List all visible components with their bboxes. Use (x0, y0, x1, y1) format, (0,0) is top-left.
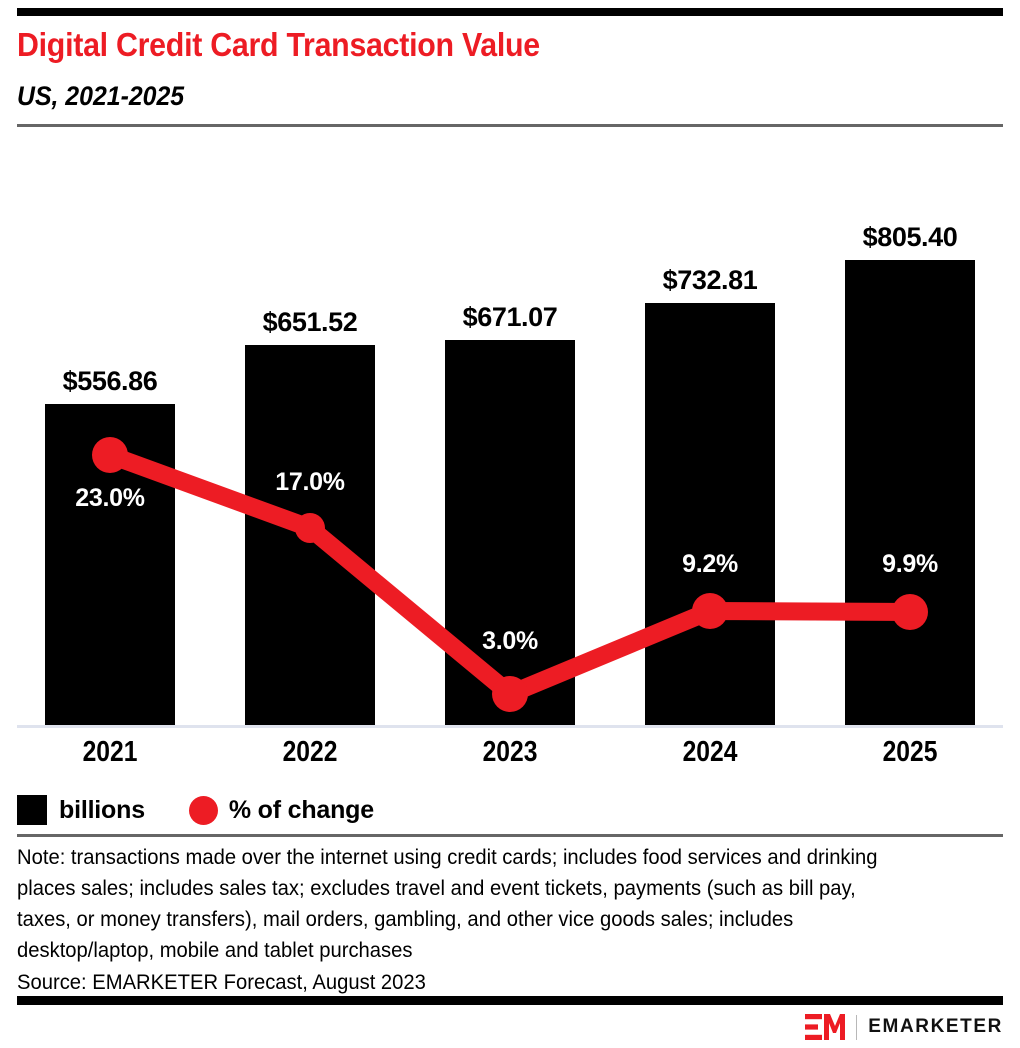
pct-change-label: 23.0% (45, 484, 175, 513)
x-axis-tick-labels: 2021 2022 2023 2024 2025 (0, 736, 1020, 778)
x-tick-label: 2023 (455, 736, 566, 769)
legend-item-percent-change: % of change (189, 796, 374, 825)
pct-point-2023 (492, 676, 528, 712)
top-rule (17, 8, 1003, 16)
brand-logo: EMARKETER (805, 1013, 1003, 1041)
legend-label: % of change (229, 796, 374, 825)
legend-label: billions (59, 796, 145, 825)
x-tick-label: 2024 (655, 736, 766, 769)
pct-change-label: 9.2% (645, 550, 775, 579)
pct-point-2024 (692, 593, 728, 629)
bar-2025 (845, 260, 975, 725)
x-tick-label: 2022 (255, 736, 366, 769)
bar-value-label: $651.52 (245, 307, 375, 338)
chart-plot-area: $556.86 $651.52 $671.07 $732.81 $805.40 … (0, 150, 1020, 730)
pct-point-2025 (892, 594, 928, 630)
pct-change-label: 3.0% (445, 627, 575, 656)
pct-point-2022 (295, 513, 325, 543)
brand-wordmark: EMARKETER (868, 1016, 1003, 1038)
bar-value-label: $732.81 (645, 265, 775, 296)
note-text: Note: transactions made over the interne… (17, 842, 901, 966)
em-logo-icon (805, 1014, 845, 1040)
legend-square-icon (17, 795, 47, 825)
header-divider (17, 124, 1003, 127)
page-title: Digital Credit Card Transaction Value (17, 26, 900, 64)
x-tick-label: 2021 (55, 736, 166, 769)
legend-circle-icon (189, 796, 218, 825)
pct-change-label: 9.9% (845, 550, 975, 579)
legend-item-billions: billions (17, 795, 145, 825)
page-subtitle: US, 2021-2025 (17, 80, 900, 112)
chart-legend: billions % of change (17, 793, 418, 827)
pct-change-label: 17.0% (245, 468, 375, 497)
bar-value-label: $805.40 (845, 222, 975, 253)
chart-page: Digital Credit Card Transaction Value US… (0, 0, 1020, 1048)
pct-point-2021 (92, 437, 128, 473)
x-axis-line (17, 725, 1003, 728)
source-text: Source: EMARKETER Forecast, August 2023 (17, 968, 901, 996)
x-tick-label: 2025 (855, 736, 966, 769)
bar-value-label: $671.07 (445, 302, 575, 333)
brand-divider (856, 1015, 857, 1040)
bar-value-label: $556.86 (45, 366, 175, 397)
notes-divider (17, 834, 1003, 837)
footer-rule (17, 996, 1003, 1005)
bar-2024 (645, 303, 775, 725)
